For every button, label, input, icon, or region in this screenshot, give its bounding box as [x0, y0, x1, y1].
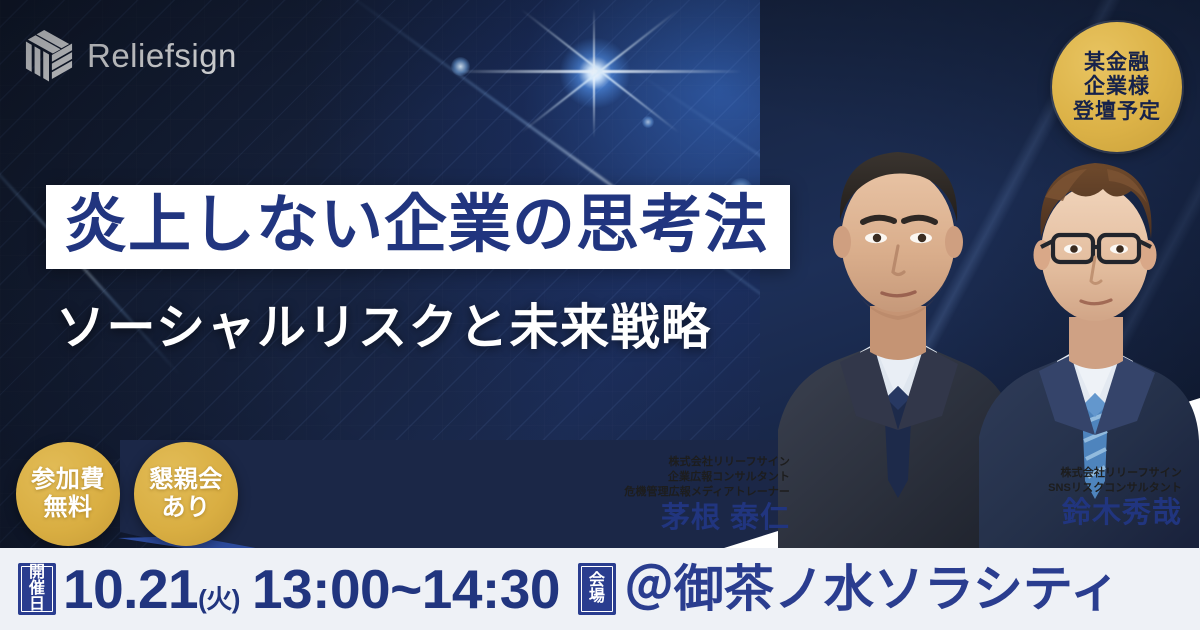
title-band: 炎上しない企業の思考法	[46, 185, 790, 269]
venue-label-tag: 会 場	[578, 563, 616, 615]
perk-badge-social: 懇親会 あり	[134, 442, 238, 546]
date-label-tag: 開 催 日	[18, 563, 56, 615]
speaker-2-role-2: SNSリスクコンサルタント	[930, 481, 1182, 496]
badge-line-2: 企業様	[1084, 75, 1150, 99]
perk-fee-line1: 参加費	[31, 467, 105, 493]
perk-badge-fee: 参加費 無料	[16, 442, 120, 546]
speaker-1-role-2: 企業広報コンサルタント	[520, 470, 790, 485]
event-time: 13:00~14:30	[252, 562, 560, 617]
speaker-2-role-1: 株式会社リリーフサイン	[930, 466, 1182, 481]
badge-line-3: 登壇予定	[1073, 100, 1161, 124]
brand-name: Reliefsign	[87, 39, 237, 72]
event-date-value: 10.21	[63, 558, 198, 620]
venue-tag-char-1: 会	[589, 573, 605, 589]
event-day-of-week: (火)	[198, 584, 240, 614]
lens-flare-diagonal-ray	[521, 9, 680, 134]
perk-social-line1: 懇親会	[149, 467, 223, 493]
lens-flare-vertical-ray	[593, 8, 595, 138]
speaker-1-credits: 株式会社リリーフサイン 企業広報コンサルタント 危機管理広報メディアトレーナー …	[520, 455, 790, 533]
badge-line-1: 某金融	[1084, 51, 1150, 75]
lens-flare-icon	[560, 38, 630, 108]
lens-flare-horizontal-ray	[452, 70, 742, 73]
page-subtitle: ソーシャルリスクと未来戦略	[56, 288, 712, 359]
speaker-2-name: 鈴木秀哉	[930, 498, 1182, 528]
speaker-2-credits: 株式会社リリーフサイン SNSリスクコンサルタント 鈴木秀哉	[930, 466, 1182, 529]
speaker-1-name: 茅根 泰仁	[520, 503, 790, 533]
date-tag-char-3: 日	[29, 597, 45, 613]
date-tag-char-1: 開	[29, 565, 45, 581]
page-title: 炎上しない企業の思考法	[64, 191, 768, 259]
speaker-1-role-3: 危機管理広報メディアトレーナー	[520, 485, 790, 500]
event-info-bar: 開 催 日 10.21(火) 13:00~14:30 会 場 ＠御茶ノ水ソラシテ…	[0, 548, 1200, 630]
brand-logo[interactable]: Reliefsign	[24, 28, 237, 82]
lens-orb-icon	[451, 57, 470, 76]
isometric-cube-logo-icon	[24, 28, 74, 82]
venue-tag-char-2: 場	[589, 589, 605, 605]
event-date: 10.21(火)	[63, 562, 240, 617]
date-tag-char-2: 催	[29, 581, 45, 597]
perk-fee-line2: 無料	[44, 495, 93, 521]
lens-flare-diagonal-ray	[521, 9, 680, 134]
featured-guest-badge: 某金融 企業様 登壇予定	[1052, 22, 1182, 152]
event-venue: ＠御茶ノ水ソラシティ	[624, 564, 1120, 614]
lens-orb-icon	[642, 116, 654, 128]
event-banner: Reliefsign 某金融 企業様 登壇予定 炎上しない企業の思考法 ソーシャ…	[0, 0, 1200, 630]
speaker-1-role-1: 株式会社リリーフサイン	[520, 455, 790, 470]
perk-social-line2: あり	[162, 495, 211, 521]
perk-badges: 参加費 無料 懇親会 あり	[16, 442, 238, 546]
